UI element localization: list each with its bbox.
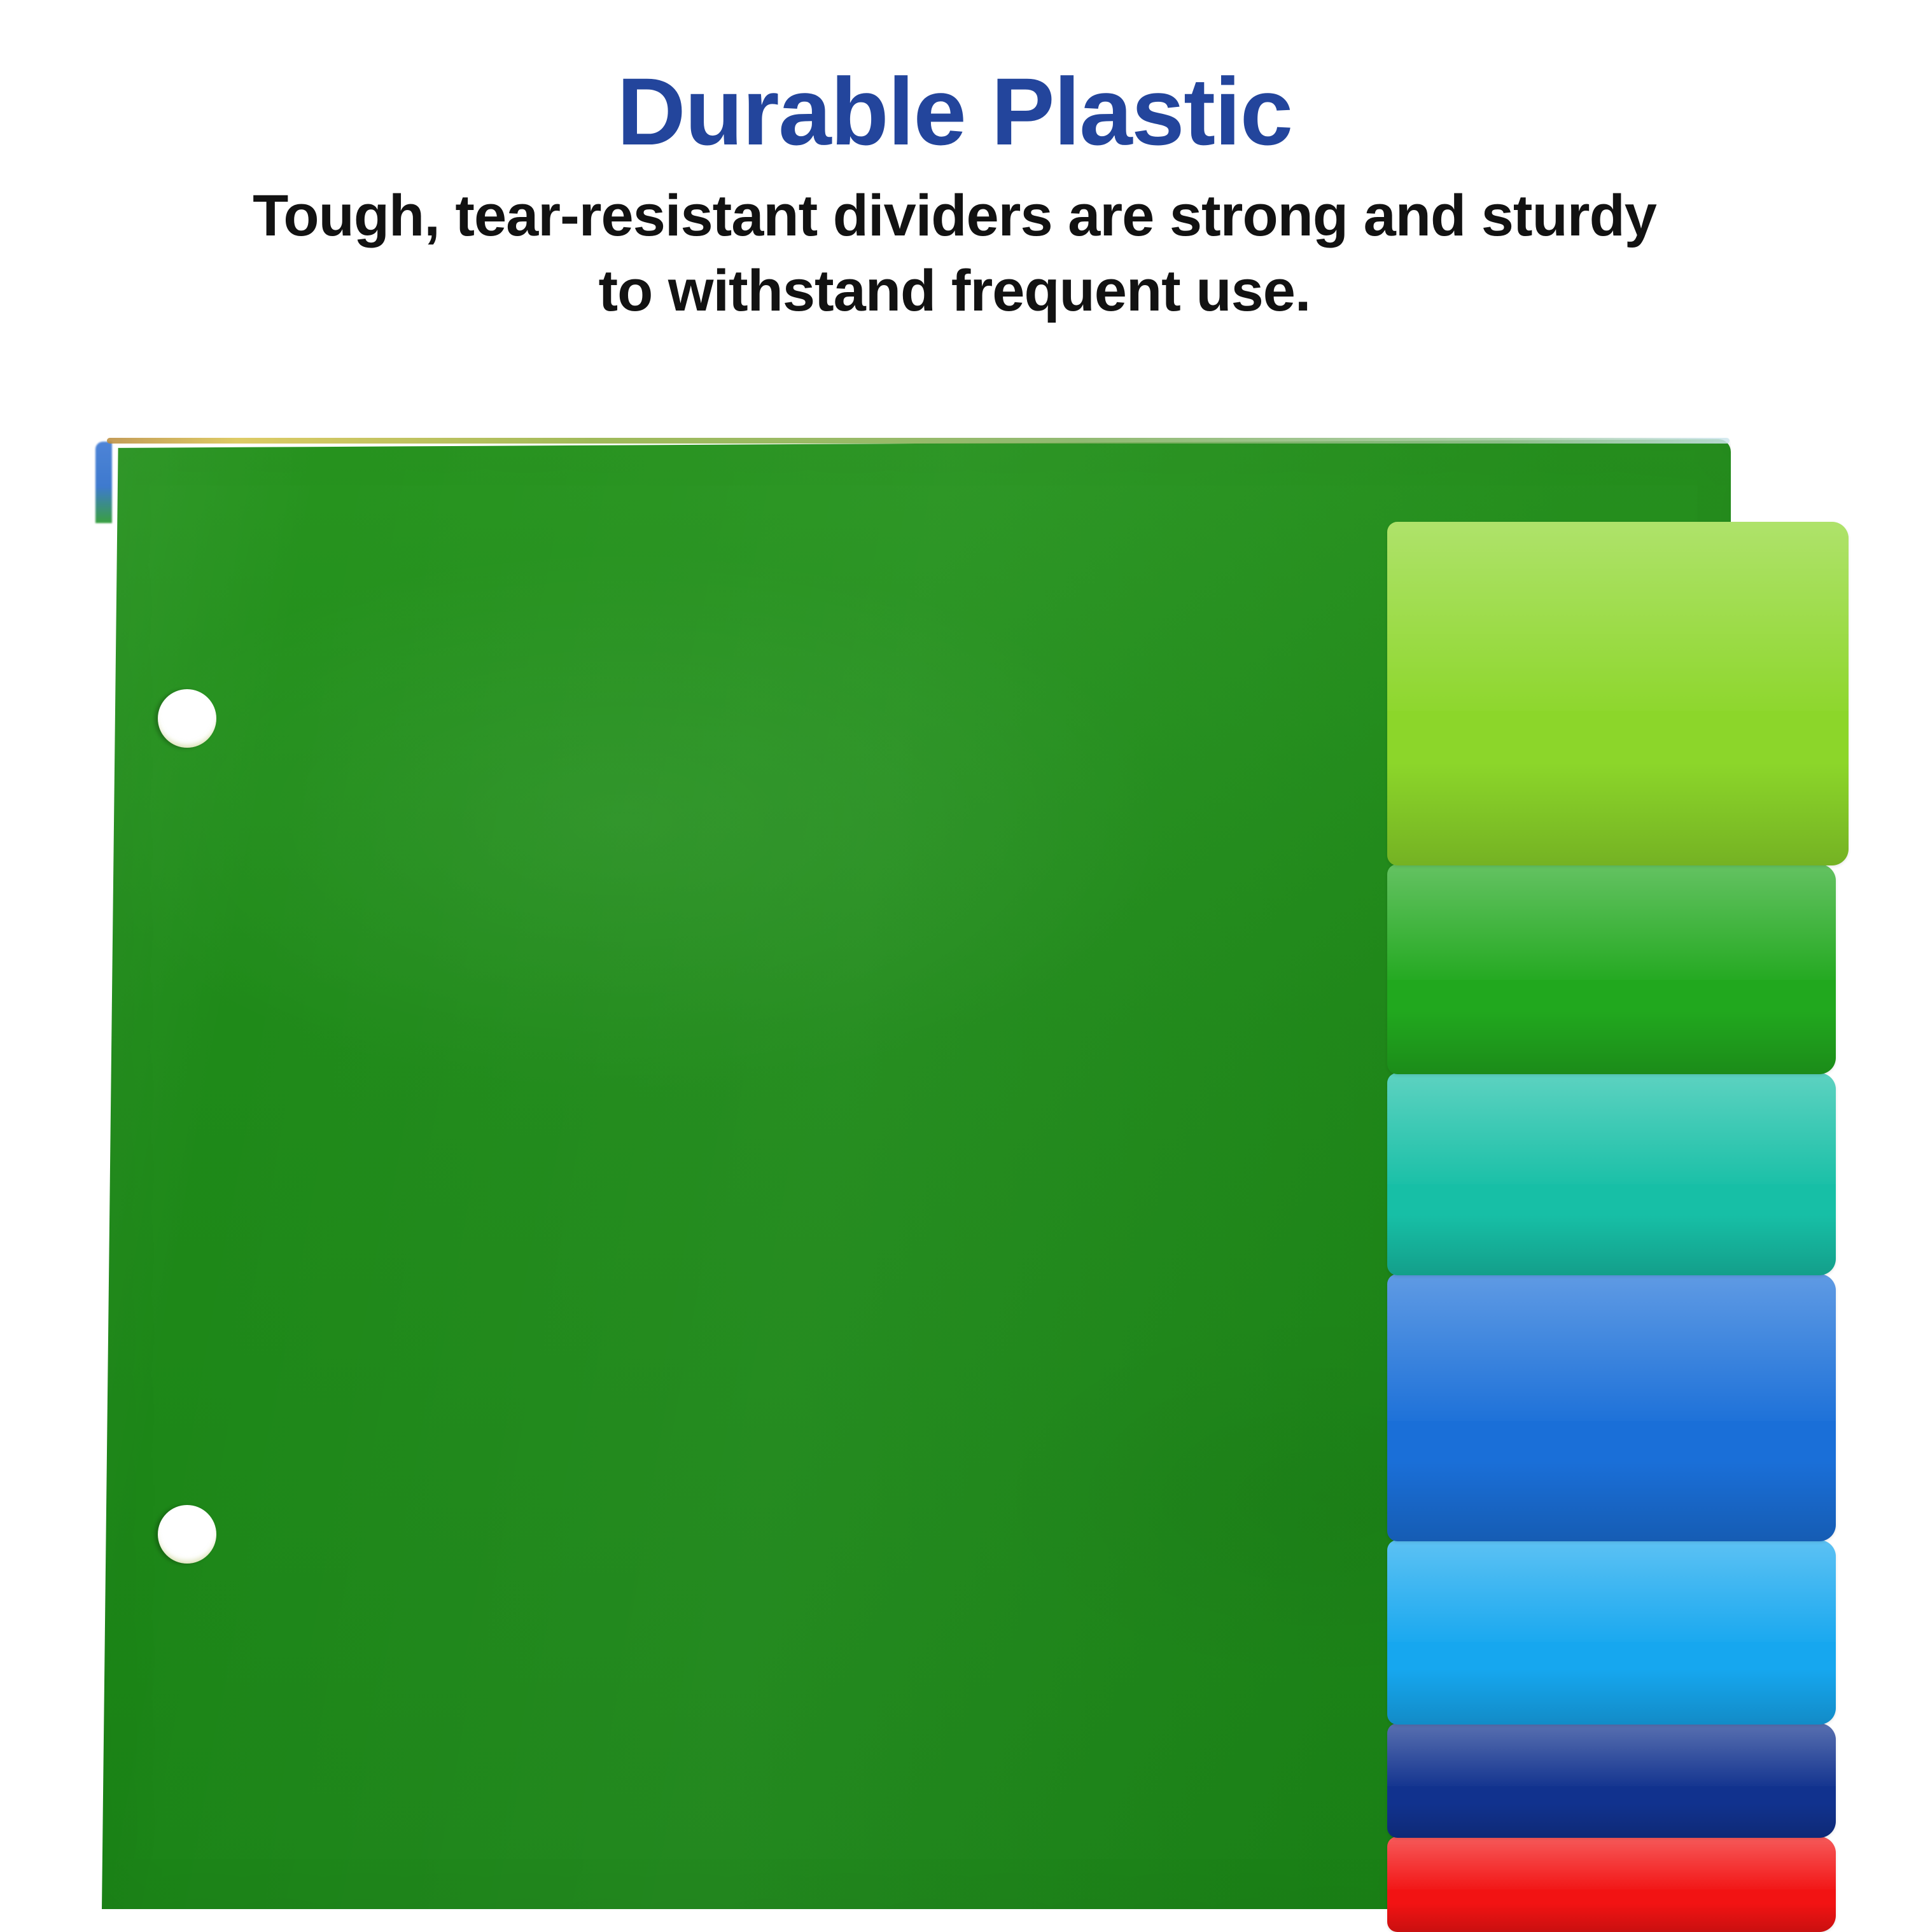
tab-shade xyxy=(1387,1011,1836,1074)
tab-gloss xyxy=(1387,522,1849,711)
divider-tab-light-blue xyxy=(1387,1540,1836,1725)
tab-gloss xyxy=(1387,864,1836,980)
divider-tab-green xyxy=(1387,864,1836,1074)
sheet-cut-edge-highlight xyxy=(107,438,1730,444)
page-subtitle-line-2: to withstand frequent use. xyxy=(599,258,1311,323)
tab-shade xyxy=(1387,762,1849,865)
page-title: Durable Plastic xyxy=(0,61,1909,162)
divider-tab-stack xyxy=(1387,439,1909,1909)
tab-shade xyxy=(1387,1215,1836,1275)
page-subtitle: Tough, tear-resistant dividers are stron… xyxy=(140,179,1769,329)
tab-shade xyxy=(1387,1669,1836,1725)
divider-tab-blue xyxy=(1387,1274,1836,1541)
divider-tab-navy xyxy=(1387,1723,1836,1838)
divider-tab-red xyxy=(1387,1837,1836,1932)
binder-hole-top xyxy=(158,689,216,748)
tab-shade xyxy=(1387,1461,1836,1541)
marketing-copy-block: Durable Plastic Tough, tear-resistant di… xyxy=(0,0,1909,329)
page-subtitle-line-1: Tough, tear-resistant dividers are stron… xyxy=(253,183,1656,248)
tab-gloss xyxy=(1387,1837,1836,1889)
tab-gloss xyxy=(1387,1073,1836,1184)
product-photo xyxy=(0,439,1909,1909)
divider-tab-light-green xyxy=(1387,522,1849,865)
tab-shade xyxy=(1387,1903,1836,1932)
binder-hole-bottom xyxy=(158,1505,216,1564)
tab-gloss xyxy=(1387,1540,1836,1642)
tab-edge-fringe xyxy=(95,442,112,523)
divider-tab-teal xyxy=(1387,1073,1836,1275)
tab-gloss xyxy=(1387,1274,1836,1421)
tab-shade xyxy=(1387,1803,1836,1838)
tab-gloss xyxy=(1387,1723,1836,1786)
